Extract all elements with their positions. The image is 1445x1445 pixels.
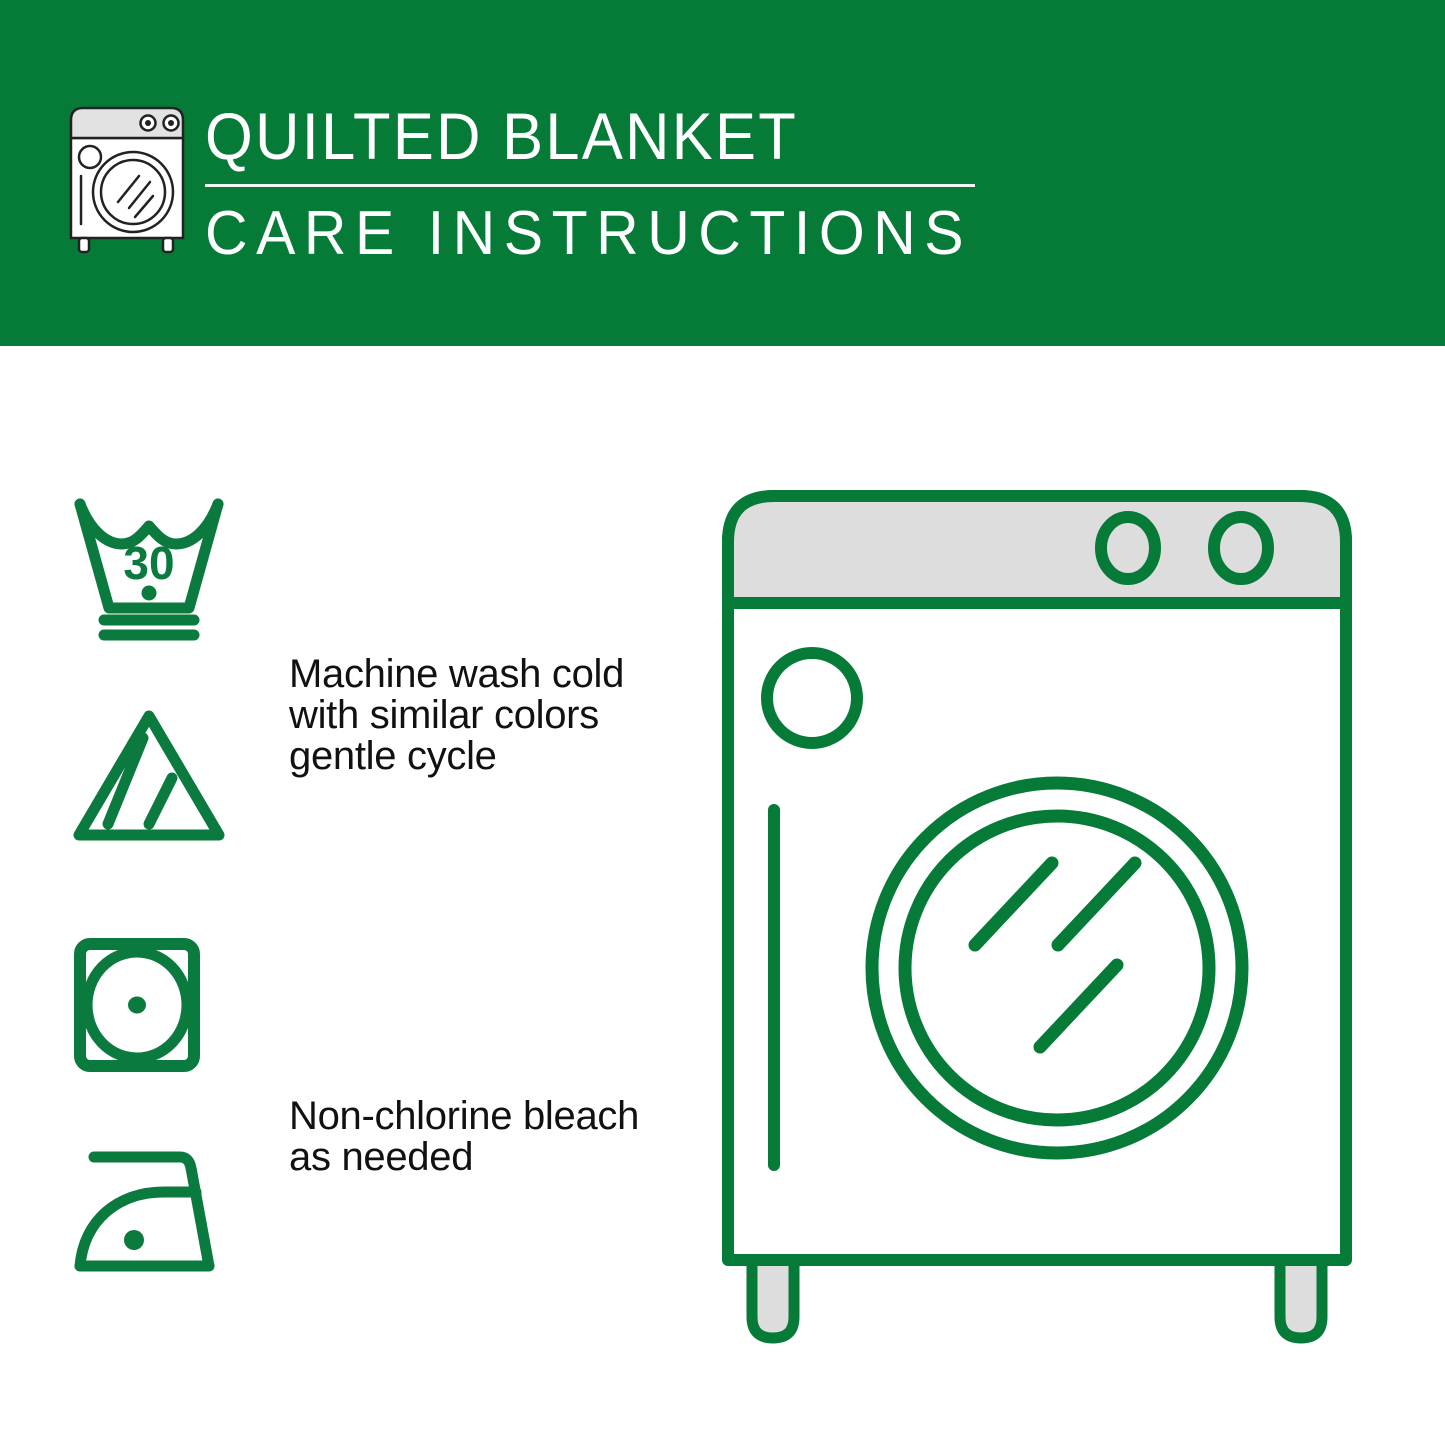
- care-text-line: gentle cycle: [289, 736, 624, 777]
- front-load-washing-machine-illustration: [700, 440, 1445, 1380]
- iron-icon: [72, 1148, 227, 1280]
- care-text-line: as needed: [289, 1137, 639, 1178]
- washing-machine-icon: [63, 104, 191, 254]
- machine-control-panel: [728, 496, 1346, 603]
- care-text-line: with similar colors: [289, 695, 624, 736]
- wash-temperature-label: 30: [123, 537, 174, 589]
- machine-wash-basin-icon: 30: [72, 496, 227, 641]
- care-item-bleach-text: Non-chlorine bleach as needed: [289, 1096, 639, 1178]
- header-band: QUILTED BLANKET CARE INSTRUCTIONS: [0, 0, 1445, 346]
- tumble-dry-icon: [72, 936, 202, 1074]
- care-text-line: Non-chlorine bleach: [289, 1096, 639, 1137]
- care-text-line: Machine wash cold: [289, 654, 624, 695]
- title-divider: [205, 184, 975, 187]
- care-instruction-list: 30 Machine wash cold with similar colors…: [0, 346, 700, 1445]
- machine-feet: [752, 1260, 1322, 1338]
- page-subtitle: CARE INSTRUCTIONS: [205, 197, 956, 271]
- page-title: QUILTED BLANKET: [205, 96, 940, 176]
- care-item-machine-wash-text: Machine wash cold with similar colors ge…: [289, 654, 624, 777]
- care-instructions-infographic: QUILTED BLANKET CARE INSTRUCTIONS 30: [0, 0, 1445, 1445]
- non-chlorine-bleach-triangle-icon: [72, 708, 227, 843]
- header-titles: QUILTED BLANKET CARE INSTRUCTIONS: [205, 96, 995, 271]
